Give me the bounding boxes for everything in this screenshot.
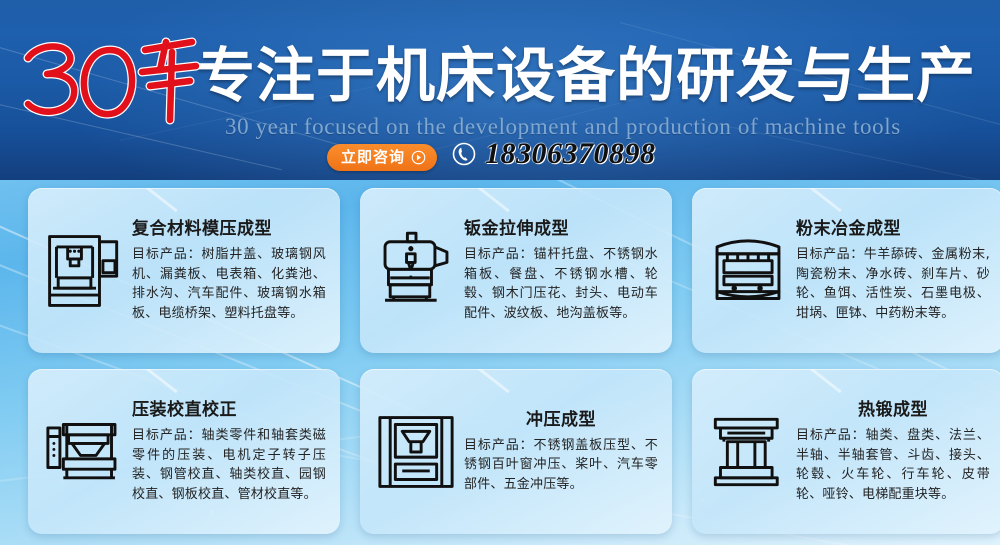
card-title: 粉末冶金成型	[796, 218, 990, 240]
card-title: 压装校直校正	[132, 399, 326, 421]
product-card-sheet-metal-drawing[interactable]: 钣金拉伸成型 目标产品：锚杆托盘、不锈钢水箱板、餐盘、不锈钢水槽、轮毂、钢木门压…	[360, 188, 672, 353]
promo-banner: 专注于机床设备的研发与生产 30 year focused on the dev…	[0, 0, 1000, 545]
product-card-press-fit-straightening[interactable]: 压装校直校正 目标产品：轴类零件和轴套类磁零件的压装、电机定子转子压装、钢管校直…	[28, 369, 340, 534]
card-text: 压装校直校正 目标产品：轴类零件和轴套类磁零件的压装、电机定子转子压装、钢管校直…	[132, 399, 330, 504]
card-description: 目标产品：锚杆托盘、不锈钢水箱板、餐盘、不锈钢水槽、轮毂、钢木门压花、封头、电动…	[464, 245, 658, 323]
card-title: 热锻成型	[796, 399, 990, 421]
card-description: 目标产品：树脂井盖、玻璃钢风机、漏粪板、电表箱、化粪池、排水沟、汽车配件、玻璃钢…	[132, 245, 326, 323]
product-card-powder-metallurgy[interactable]: 粉末冶金成型 目标产品：牛羊舔砖、金属粉末,陶瓷粉末、净水砖、刹车片、砂轮、鱼饵…	[692, 188, 1000, 353]
hot-forging-press-icon	[700, 397, 796, 507]
card-description: 目标产品：不锈钢盖板压型、不锈钢百叶窗冲压、桨叶、汽车零部件、五金冲压等。	[464, 436, 658, 495]
consult-now-label: 立即咨询	[341, 150, 405, 165]
product-card-composite-molding[interactable]: 复合材料模压成型 目标产品：树脂井盖、玻璃钢风机、漏粪板、电表箱、化粪池、排水沟…	[28, 188, 340, 353]
product-card-grid: 复合材料模压成型 目标产品：树脂井盖、玻璃钢风机、漏粪板、电表箱、化粪池、排水沟…	[0, 180, 1000, 545]
card-title: 钣金拉伸成型	[464, 218, 658, 240]
card-text: 热锻成型 目标产品：轴类、盘类、法兰、半轴、半轴套管、斗齿、接头、轮毂、火车轮、…	[796, 399, 994, 504]
card-title: 复合材料模压成型	[132, 218, 326, 240]
card-description: 目标产品：轴类零件和轴套类磁零件的压装、电机定子转子压装、钢管校直、轴类校直、园…	[132, 426, 326, 504]
cards-section: 复合材料模压成型 目标产品：树脂井盖、玻璃钢风机、漏粪板、电表箱、化粪池、排水沟…	[0, 180, 1000, 545]
thirty-years-badge	[14, 28, 204, 128]
card-text: 冲压成型 目标产品：不锈钢盖板压型、不锈钢百叶窗冲压、桨叶、汽车零部件、五金冲压…	[464, 409, 662, 495]
consult-now-button[interactable]: 立即咨询	[327, 144, 437, 171]
card-description: 目标产品：牛羊舔砖、金属粉末,陶瓷粉末、净水砖、刹车片、砂轮、鱼饵、活性炭、石墨…	[796, 245, 990, 323]
headline: 专注于机床设备的研发与生产	[196, 44, 976, 108]
card-text: 钣金拉伸成型 目标产品：锚杆托盘、不锈钢水箱板、餐盘、不锈钢水槽、轮毂、钢木门压…	[464, 218, 662, 323]
powder-metallurgy-press-icon	[700, 216, 796, 326]
stamping-press-icon	[368, 397, 464, 507]
card-description: 目标产品：轴类、盘类、法兰、半轴、半轴套管、斗齿、接头、轮毂、火车轮、行车轮、皮…	[796, 426, 990, 504]
product-card-hot-forging[interactable]: 热锻成型 目标产品：轴类、盘类、法兰、半轴、半轴套管、斗齿、接头、轮毂、火车轮、…	[692, 369, 1000, 534]
press-fit-straightening-icon	[36, 397, 132, 507]
card-text: 复合材料模压成型 目标产品：树脂井盖、玻璃钢风机、漏粪板、电表箱、化粪池、排水沟…	[132, 218, 330, 323]
product-card-stamping[interactable]: 冲压成型 目标产品：不锈钢盖板压型、不锈钢百叶窗冲压、桨叶、汽车零部件、五金冲压…	[360, 369, 672, 534]
sheet-metal-drawing-press-icon	[368, 216, 464, 326]
card-text: 粉末冶金成型 目标产品：牛羊舔砖、金属粉末,陶瓷粉末、净水砖、刹车片、砂轮、鱼饵…	[796, 218, 994, 323]
phone-contact[interactable]: 18306370898	[452, 139, 656, 169]
card-title: 冲压成型	[464, 409, 658, 431]
phone-icon	[452, 142, 476, 166]
compression-molding-press-icon	[36, 216, 132, 326]
circle-arrow-right-icon	[411, 150, 426, 165]
phone-number: 18306370898	[485, 139, 656, 169]
banner-header: 专注于机床设备的研发与生产 30 year focused on the dev…	[0, 0, 1000, 180]
